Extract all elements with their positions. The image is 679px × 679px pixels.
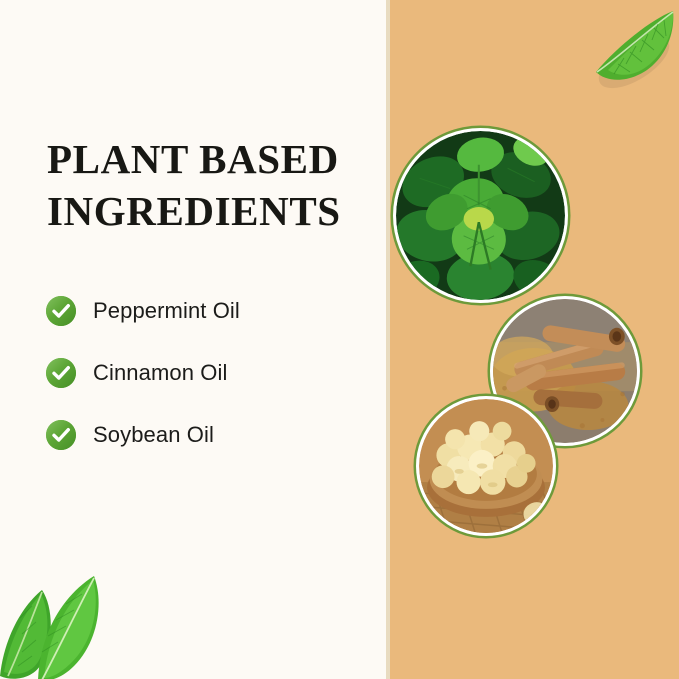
check-circle-icon [46,358,76,388]
ingredient-label: Peppermint Oil [93,298,240,324]
page-title: PLANT BASED INGREDIENTS [47,133,367,237]
peppermint-photo-inner [396,131,565,300]
list-item: Peppermint Oil [46,292,366,330]
ingredient-label: Cinnamon Oil [93,360,227,386]
soybeans-photo [416,396,556,536]
list-item: Soybean Oil [46,416,366,454]
ingredient-list: Peppermint Oil Cinnamon Oil Soybean Oil [46,292,366,478]
list-item: Cinnamon Oil [46,354,366,392]
ingredient-label: Soybean Oil [93,422,214,448]
check-circle-icon [46,296,76,326]
soybean-photo-inner [419,399,553,533]
panel-divider [386,0,390,679]
mint-leaf-icon [578,8,678,100]
check-circle-icon [46,420,76,450]
mint-leaf-pair-icon [0,560,150,679]
peppermint-leaves-photo [393,128,568,303]
plant-based-ingredients-infographic: PLANT BASED INGREDIENTS Peppermint [0,0,679,679]
